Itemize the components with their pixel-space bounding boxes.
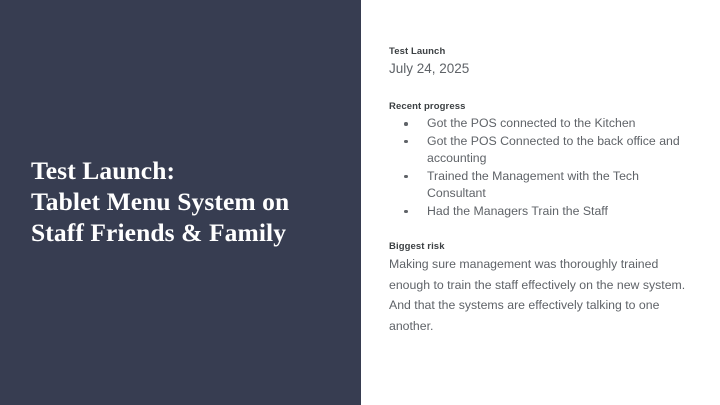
recent-progress-list: Got the POS connected to the Kitchen Got… [389,115,689,220]
biggest-risk-label: Biggest risk [389,240,689,253]
presentation-slide: Test Launch: Tablet Menu System on Staff… [0,0,720,405]
meta-block: Test Launch July 24, 2025 [389,45,689,78]
list-item-label: Trained the Management with the Tech Con… [427,169,639,201]
recent-progress-label: Recent progress [389,100,689,113]
list-item-label: Got the POS Connected to the back office… [427,134,680,166]
list-item-label: Had the Managers Train the Staff [427,204,608,218]
bullet-icon [404,210,408,214]
list-item: Had the Managers Train the Staff [389,203,689,221]
notes-panel: Test Launch July 24, 2025 Recent progres… [361,0,720,405]
bullet-icon [404,175,408,179]
list-item-label: Got the POS connected to the Kitchen [427,116,636,130]
slide-title-line-2: Tablet Menu System on [31,186,341,217]
meta-label: Test Launch [389,45,689,58]
bullet-icon [404,140,408,144]
list-item: Trained the Management with the Tech Con… [389,168,689,203]
biggest-risk-section: Biggest risk Making sure management was … [389,240,689,336]
slide-title: Test Launch: Tablet Menu System on Staff… [31,155,341,248]
slide-title-line-1: Test Launch: [31,155,341,186]
list-item: Got the POS Connected to the back office… [389,133,689,168]
notes-content: Test Launch July 24, 2025 Recent progres… [389,45,689,336]
slide-title-line-3: Staff Friends & Family [31,217,341,248]
bullet-icon [404,122,408,126]
biggest-risk-text: Making sure management was thoroughly tr… [389,254,689,336]
meta-date: July 24, 2025 [389,59,689,78]
recent-progress-section: Recent progress Got the POS connected to… [389,100,689,220]
list-item: Got the POS connected to the Kitchen [389,115,689,133]
title-panel: Test Launch: Tablet Menu System on Staff… [0,0,361,405]
